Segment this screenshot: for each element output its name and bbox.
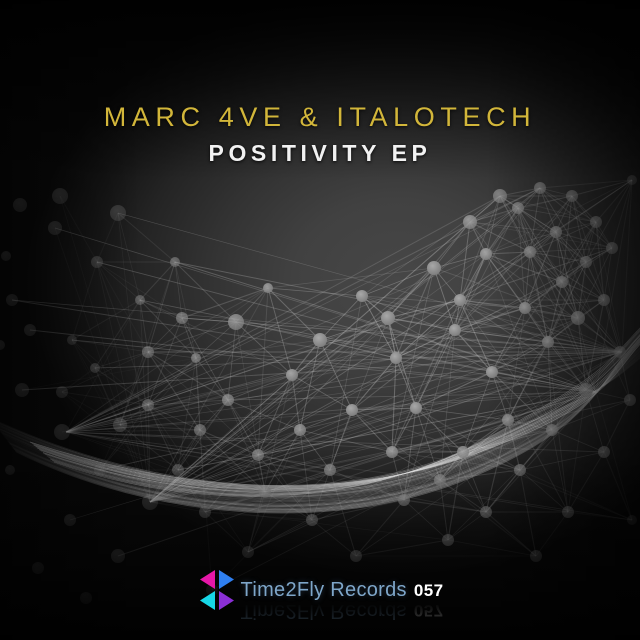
logo-triangle-magenta	[200, 570, 215, 589]
logo-triangle-purple	[219, 591, 234, 610]
release-title: POSITIVITY EP	[0, 142, 640, 165]
album-cover: MARC 4VE & ITALOTECH POSITIVITY EP Time2…	[0, 0, 640, 640]
logo-triangle-cyan	[200, 591, 215, 610]
label-logo: Time2Fly Records 057 Time2Fly Records 05…	[0, 568, 640, 612]
catalog-number: 057	[414, 582, 444, 599]
time2fly-logo-icon	[197, 568, 237, 612]
label-text-group: Time2Fly Records 057 Time2Fly Records 05…	[241, 580, 444, 600]
artist-name: MARC 4VE & ITALOTECH	[0, 104, 640, 131]
title-block: MARC 4VE & ITALOTECH POSITIVITY EP	[0, 104, 640, 165]
label-name: Time2Fly Records	[241, 580, 407, 600]
logo-triangle-blue	[219, 570, 234, 589]
background-vignette	[0, 0, 640, 640]
